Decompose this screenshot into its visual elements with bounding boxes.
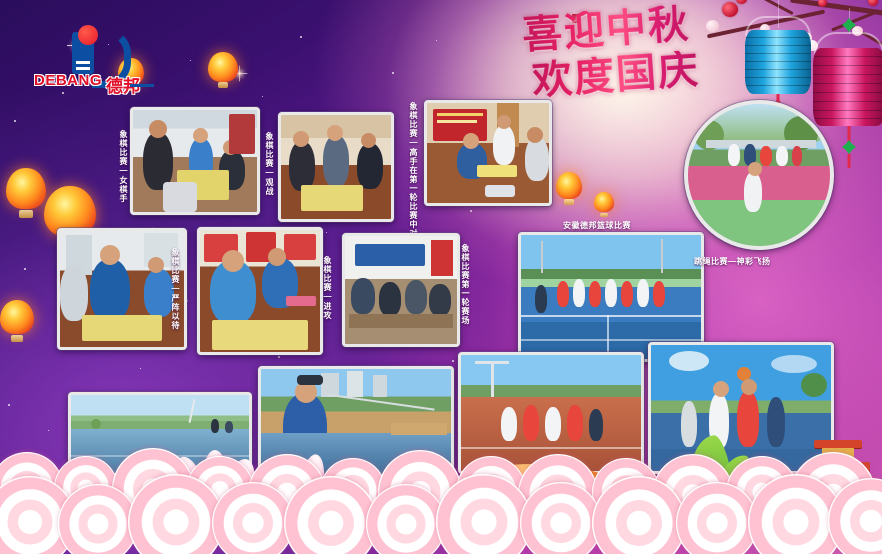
- caption-chess-female-player: 象棋比赛—女棋手: [118, 130, 129, 203]
- auspicious-cloud: [0, 452, 64, 526]
- photo-chess-spectators[interactable]: [278, 112, 394, 222]
- auspicious-cloud: [592, 476, 686, 554]
- golden-fan: [740, 486, 832, 540]
- auspicious-cloud: [366, 484, 446, 554]
- caption-chess-spectators: 象棋比赛—观战: [264, 132, 275, 196]
- debang-logo-icon: [72, 28, 126, 74]
- photo-chess-meeting-room[interactable]: [424, 100, 552, 206]
- sky-lantern: [208, 52, 238, 90]
- photo-basketball-defense[interactable]: [458, 352, 644, 474]
- caption-chess-ready: 象棋比赛—严阵以待: [170, 248, 181, 330]
- chinese-knot: [842, 140, 856, 154]
- photo-fishing-river[interactable]: [68, 392, 252, 476]
- orange-rock: [600, 490, 730, 542]
- photo-fishing-catch[interactable]: [258, 366, 454, 478]
- photo-chess-hall[interactable]: [342, 233, 460, 347]
- photo-jump-rope[interactable]: [684, 100, 834, 250]
- debang-logo: DEBANG 德邦: [34, 28, 154, 96]
- caption-basketball-team: 安徽德邦篮球比赛: [563, 220, 631, 231]
- festival-poster: 喜迎中秋 欢度国庆 DEBANG 德邦 象棋比赛—女棋手: [0, 0, 882, 554]
- caption-basketball-defense: 安徽德邦篮球比赛—进攻与防守: [477, 478, 596, 489]
- auspicious-cloud: [676, 482, 758, 554]
- auspicious-cloud: [58, 484, 138, 554]
- caption-jump-rope: 跳绳比赛—神彩飞扬: [694, 256, 771, 267]
- photo-chess-attack[interactable]: [197, 227, 323, 355]
- blue-lantern-body: [745, 30, 811, 94]
- auspicious-cloud: [0, 476, 76, 554]
- caption-chess-meeting-room: 象棋比赛—高手在第一轮比赛中对决: [408, 102, 419, 247]
- sky-lantern: [594, 192, 614, 218]
- caption-basketball-jumpball: 安徽德邦篮球比赛—争: [698, 478, 783, 489]
- photo-basketball-jumpball[interactable]: [648, 342, 834, 474]
- caption-fishing-river: 科技公司钓鱼比赛—垂钓中: [84, 478, 186, 489]
- caption-fishing-catch: 科技公司钓鱼比赛—收获颇丰: [278, 482, 389, 493]
- caption-chess-attack: 象棋比赛—进攻: [322, 256, 333, 320]
- logo-underline: [130, 84, 154, 87]
- chinese-knot: [842, 18, 856, 32]
- auspicious-cloud: [828, 478, 882, 554]
- sky-lantern: [0, 300, 34, 344]
- sky-lantern: [556, 172, 582, 206]
- plum-blossom: [868, 0, 878, 6]
- caption-chess-hall: 象棋比赛第一轮赛场: [460, 244, 471, 325]
- brand-name-english: DEBANG: [34, 72, 102, 89]
- photo-chess-ready[interactable]: [57, 228, 187, 350]
- photo-chess-female-player[interactable]: [130, 107, 260, 215]
- auspicious-cloud: [520, 482, 602, 554]
- pink-lantern-body: [813, 48, 882, 126]
- title-line-2: 欢度国庆: [531, 47, 737, 101]
- page-title: 喜迎中秋 欢度国庆: [516, 8, 736, 108]
- sky-lantern: [6, 168, 46, 220]
- title-line-1: 喜迎中秋: [521, 1, 737, 56]
- golden-fan: [678, 488, 756, 536]
